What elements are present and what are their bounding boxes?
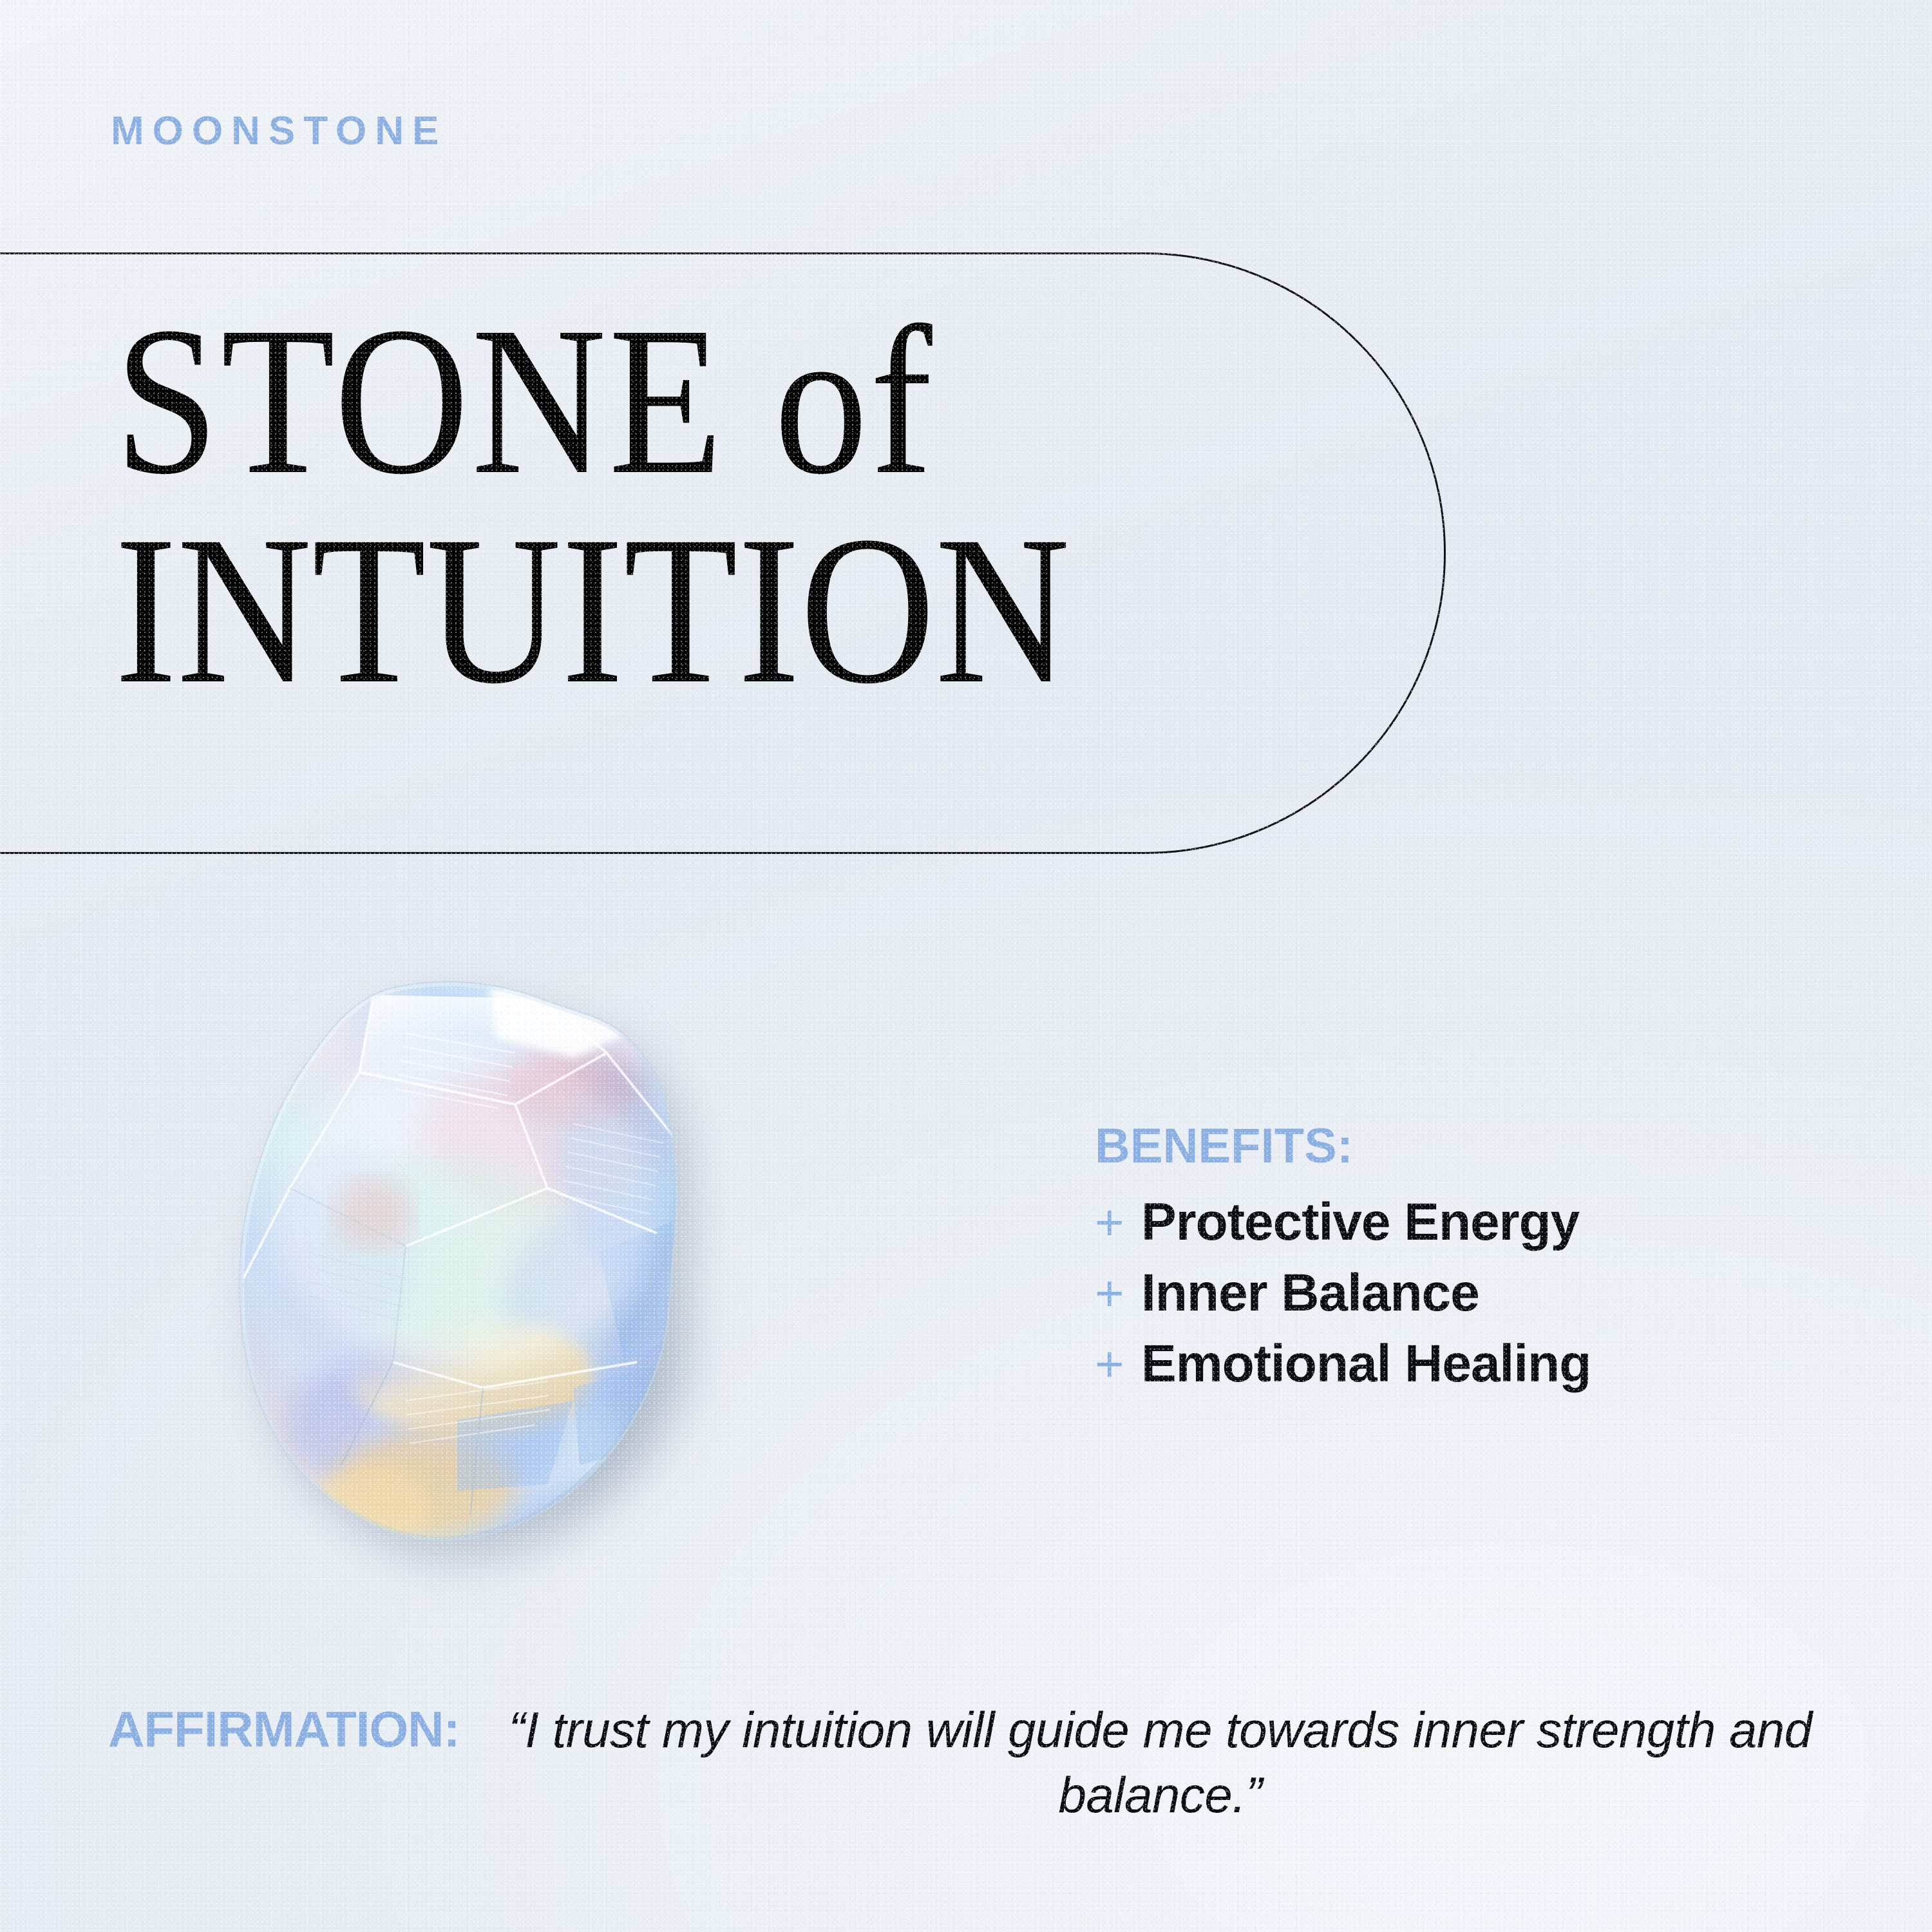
plus-icon: + bbox=[1095, 1197, 1141, 1247]
poster-canvas: MOONSTONE STONE of INTUITION bbox=[0, 0, 1932, 1932]
benefit-label: Inner Balance bbox=[1141, 1264, 1479, 1323]
plus-icon: + bbox=[1095, 1268, 1141, 1318]
crystal-figure bbox=[213, 976, 741, 1568]
benefits-section: BENEFITS: + Protective Energy + Inner Ba… bbox=[1095, 1122, 1855, 1405]
title-line-1: STONE of bbox=[115, 303, 1070, 500]
affirmation-section: AFFIRMATION: “I trust my intuition will … bbox=[108, 1698, 1847, 1828]
benefit-label: Protective Energy bbox=[1141, 1193, 1579, 1252]
benefit-item-inner-balance: + Inner Balance bbox=[1095, 1264, 1855, 1323]
benefit-item-emotional-healing: + Emotional Healing bbox=[1095, 1334, 1855, 1394]
title-line-2: INTUITION bbox=[115, 512, 1070, 710]
eyebrow-label: MOONSTONE bbox=[111, 108, 447, 154]
benefit-label: Emotional Healing bbox=[1141, 1334, 1591, 1394]
affirmation-label: AFFIRMATION: bbox=[108, 1698, 473, 1762]
page-title: STONE of INTUITION bbox=[115, 303, 1200, 710]
plus-icon: + bbox=[1095, 1339, 1141, 1389]
moonstone-crystal-icon bbox=[213, 976, 721, 1549]
benefits-heading: BENEFITS: bbox=[1095, 1122, 1855, 1171]
benefit-item-protective-energy: + Protective Energy bbox=[1095, 1193, 1855, 1252]
affirmation-quote: “I trust my intuition will guide me towa… bbox=[473, 1698, 1847, 1828]
